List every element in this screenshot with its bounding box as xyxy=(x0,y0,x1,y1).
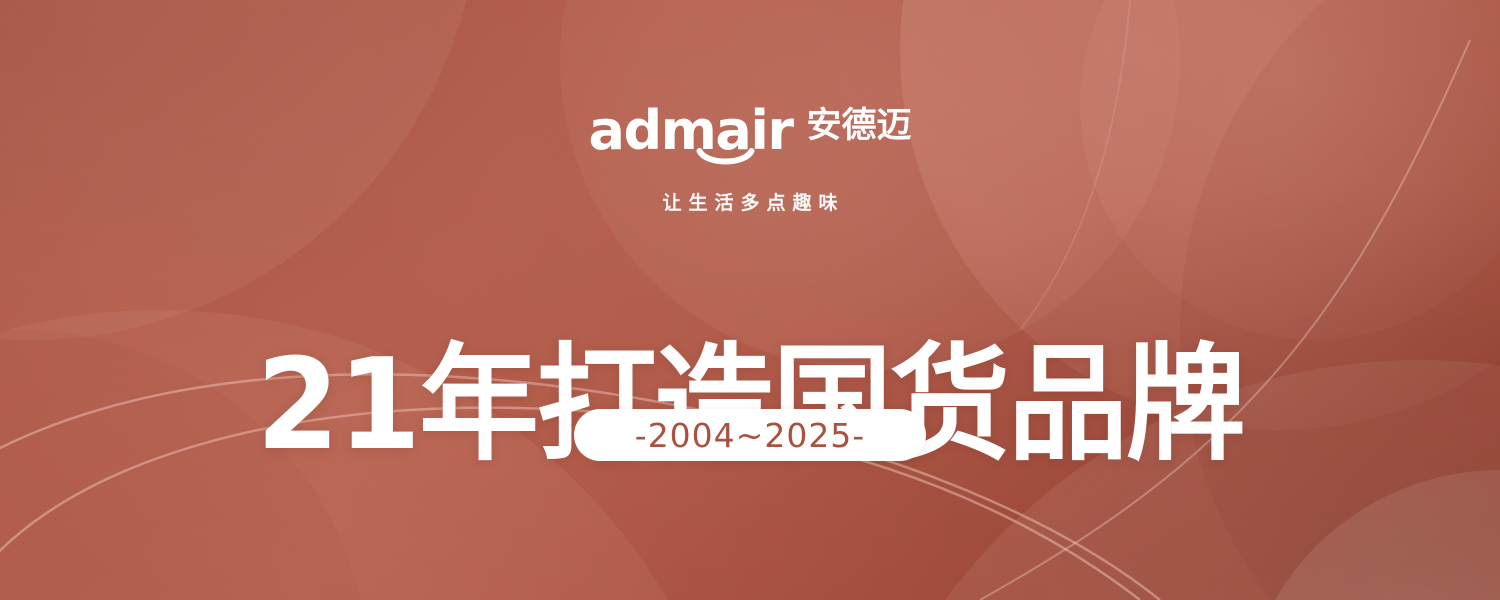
brand-tagline: 让生活多点趣味 xyxy=(655,188,844,215)
year-range-text: -2004~2025- xyxy=(635,419,865,452)
year-range-badge: -2004~2025- xyxy=(574,409,926,461)
banner-content: admair 安德迈 让生活多点趣味 21年打造国货品牌 -2004~2025- xyxy=(0,0,1500,600)
promo-banner: admair 安德迈 让生活多点趣味 21年打造国货品牌 -2004~2025- xyxy=(0,0,1500,600)
logo-wordmark-wrap: admair xyxy=(589,104,793,158)
brand-logo[interactable]: admair 安德迈 xyxy=(589,104,912,158)
smile-arc-icon xyxy=(697,148,755,168)
logo-wordmark: admair xyxy=(589,104,793,158)
logo-chinese-name: 安德迈 xyxy=(806,109,911,144)
